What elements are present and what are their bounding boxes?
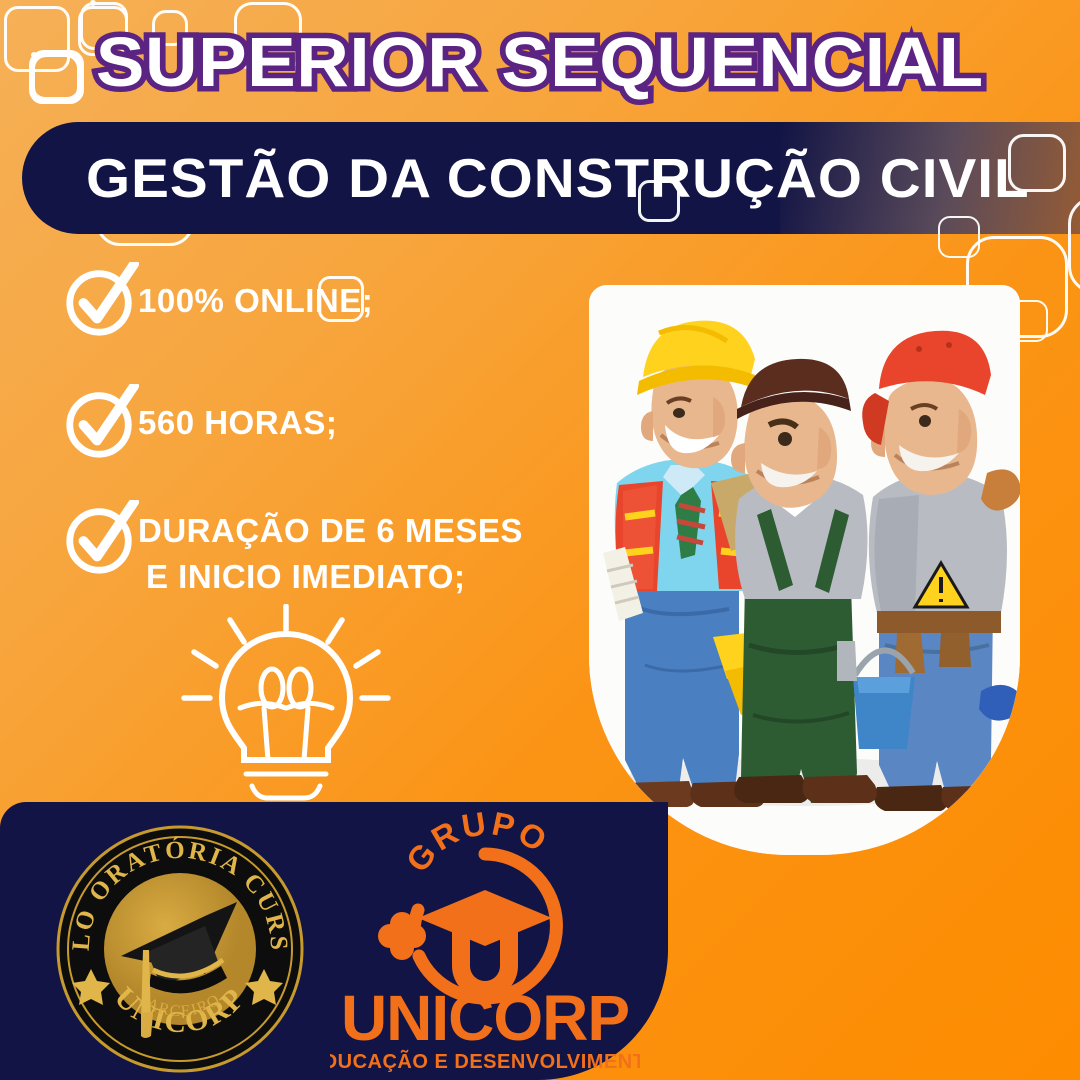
footer-panel: POLO ORATÓRIA CURSOS UNICORP PARCEIRO [0, 802, 668, 1080]
promo-poster: SUPERIOR SEQUENCIAL GESTÃO DA CONSTRUÇÃO… [0, 0, 1080, 1080]
lightbulb-idea-icon [168, 604, 404, 804]
course-photo [589, 285, 1020, 855]
graduation-cap-circle-icon [418, 890, 552, 946]
check-circle-icon [62, 384, 140, 462]
check-circle-icon [62, 500, 140, 578]
list-item-label: 560 HORAS; [138, 384, 582, 446]
logo-wordmark: UNICORP [341, 982, 629, 1054]
list-item-line: E INICIO IMEDIATO; [138, 554, 582, 600]
logo-tagline: EDUCAÇÃO E DESENVOLVIMENTO [330, 1050, 640, 1073]
check-circle-icon [62, 262, 140, 340]
list-item-line: DURAÇÃO DE 6 MESES [138, 508, 582, 554]
list-item: 100% ONLINE; [62, 262, 582, 348]
partner-seal: POLO ORATÓRIA CURSOS UNICORP PARCEIRO [55, 824, 305, 1074]
list-item-label: DURAÇÃO DE 6 MESES E INICIO IMEDIATO; [138, 500, 582, 599]
unicorp-logo: GRUPO UNICORP EDUCAÇÃO E DESENVOLVIMENTO [330, 812, 640, 1077]
course-name: GESTÃO DA CONSTRUÇÃO CIVIL [86, 122, 1030, 234]
course-name-banner: GESTÃO DA CONSTRUÇÃO CIVIL [22, 122, 1080, 234]
construction-workers-figurines-illustration [589, 285, 1020, 855]
page-title: SUPERIOR SEQUENCIAL [96, 22, 984, 102]
feature-list: 100% ONLINE; 560 HORAS; DURAÇÃO DE 6 MES… [62, 262, 582, 635]
list-item: DURAÇÃO DE 6 MESES E INICIO IMEDIATO; [62, 500, 582, 599]
list-item: 560 HORAS; [62, 384, 582, 470]
decor-square [638, 180, 680, 222]
list-item-label: 100% ONLINE; [138, 262, 582, 324]
poster-title-wrapper: SUPERIOR SEQUENCIAL [0, 22, 1080, 102]
decor-square [1008, 134, 1066, 192]
bulb-glass [222, 634, 350, 760]
